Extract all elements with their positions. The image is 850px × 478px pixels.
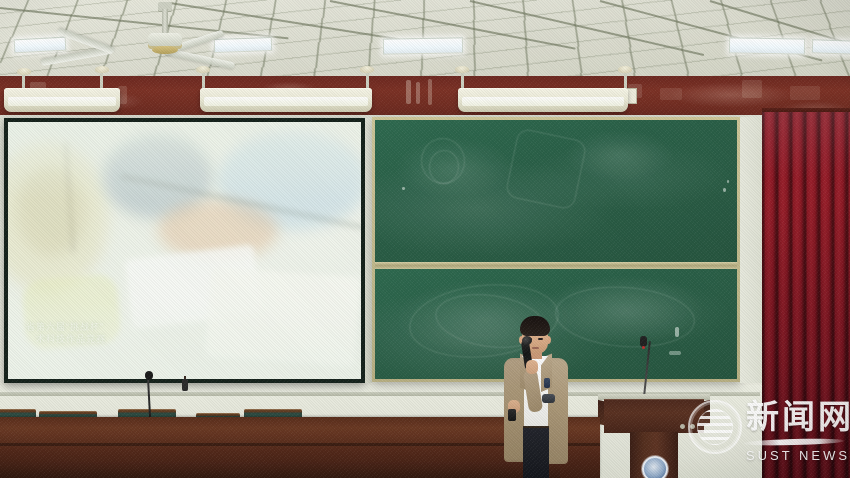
mouth bbox=[532, 347, 539, 349]
wall-strip-right-of-board bbox=[740, 117, 762, 383]
fluorescent-tube bbox=[462, 97, 624, 106]
presentation-clicker bbox=[508, 409, 516, 421]
fluorescent-tube bbox=[8, 97, 116, 106]
fluorescent-tube bbox=[204, 97, 368, 106]
fixture-canopy bbox=[455, 66, 469, 73]
wall-scuff bbox=[790, 86, 820, 100]
projected-caption-line-1: 省第六届“挑战杯” bbox=[26, 321, 256, 333]
fixture-housing bbox=[200, 88, 372, 112]
wall-gap-strip bbox=[365, 118, 372, 383]
chalk-dot bbox=[723, 188, 726, 192]
chalk-dot bbox=[727, 180, 729, 183]
fluorescent-fixture bbox=[458, 80, 628, 120]
shirt-cuff bbox=[542, 394, 555, 403]
fixture-canopy bbox=[618, 66, 632, 73]
fixture-canopy bbox=[17, 68, 31, 75]
chalk-dot bbox=[675, 327, 679, 337]
hand-right bbox=[526, 360, 538, 374]
hair bbox=[520, 316, 550, 336]
projected-caption: 省第六届“挑战杯” 术科技作品竞赛 bbox=[26, 321, 256, 345]
fixture-canopy bbox=[360, 66, 374, 73]
projection-screen-surface: 省第六届“挑战杯” 术科技作品竞赛 bbox=[8, 122, 361, 379]
wall-scuff bbox=[742, 80, 762, 98]
wall-scuff bbox=[406, 80, 411, 104]
recessed-light-panel bbox=[383, 37, 463, 54]
wall-scuff bbox=[660, 88, 682, 100]
eyebrow-right bbox=[537, 334, 544, 336]
gooseneck-mic-indicator bbox=[642, 346, 645, 349]
fan-hub bbox=[152, 46, 178, 54]
wall-scuff bbox=[628, 84, 642, 98]
fixture-canopy bbox=[95, 66, 109, 73]
wall-scuff bbox=[416, 82, 420, 104]
fixture-housing bbox=[458, 88, 628, 112]
university-emblem bbox=[642, 456, 668, 478]
presenter bbox=[492, 316, 578, 478]
chalk-dot bbox=[402, 187, 405, 190]
chalk-dot bbox=[669, 351, 681, 355]
wall-scuff bbox=[428, 79, 432, 105]
recessed-light-panel bbox=[729, 37, 805, 54]
blackboard-top-panel bbox=[375, 120, 737, 262]
bench-microphone-head bbox=[145, 371, 153, 380]
blackboard-divider-rail bbox=[375, 262, 737, 269]
red-curtain bbox=[762, 112, 850, 478]
eye-right bbox=[538, 338, 543, 340]
screen-bottom-weight bbox=[182, 379, 188, 391]
fixture-canopy bbox=[196, 66, 210, 73]
lectern-control-knob bbox=[680, 424, 685, 429]
ceiling-fan bbox=[96, 2, 236, 60]
trousers bbox=[523, 428, 549, 478]
lectern bbox=[598, 394, 710, 478]
ceiling bbox=[0, 0, 850, 78]
lectern-body bbox=[604, 399, 704, 433]
upper-wall-band bbox=[0, 76, 850, 118]
recessed-light-panel bbox=[812, 39, 850, 55]
chalk-smudge bbox=[565, 130, 675, 180]
fluorescent-fixture bbox=[200, 80, 372, 120]
bench-desk-second-row bbox=[0, 462, 560, 478]
jacket-badge bbox=[544, 378, 550, 388]
projected-caption-line-2: 术科技作品竞赛 bbox=[26, 333, 256, 345]
lecture-hall-photo: 省第六届“挑战杯” 术科技作品竞赛 bbox=[0, 0, 850, 478]
lectern-control-knob bbox=[690, 424, 695, 429]
fluorescent-fixture bbox=[4, 80, 120, 120]
fixture-housing bbox=[4, 88, 120, 112]
recessed-light-panel bbox=[14, 37, 67, 54]
projection-screen: 省第六届“挑战杯” 术科技作品竞赛 bbox=[4, 118, 365, 383]
